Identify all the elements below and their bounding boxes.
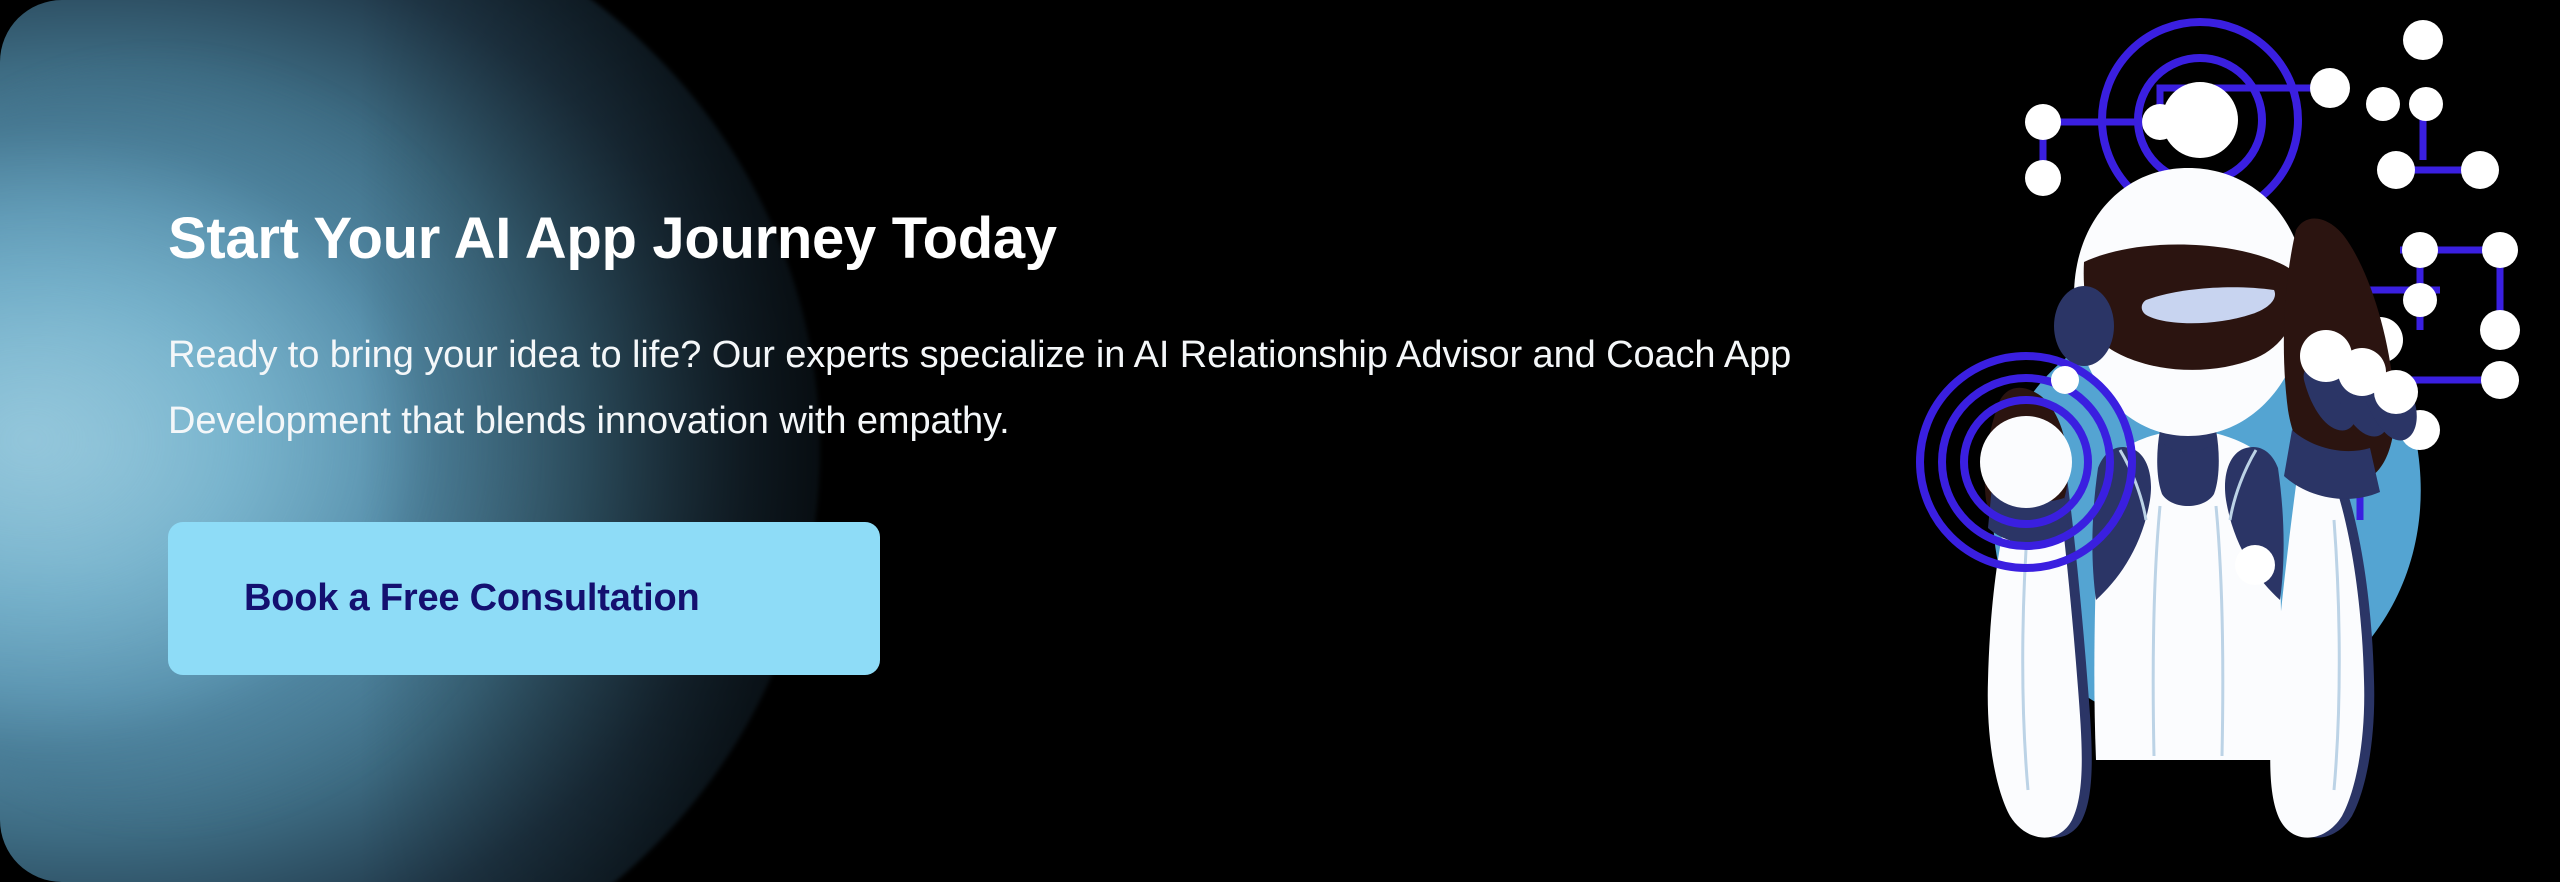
banner-content: Start Your AI App Journey Today Ready to… [168,0,1928,882]
right-ring-core [2162,82,2238,158]
book-a-free-consultation-button[interactable]: Book a Free Consultation [168,522,880,675]
page-title: Start Your AI App Journey Today [168,206,1057,272]
banner-description: Ready to bring your idea to life? Our ex… [168,322,1998,454]
robot-torso [2092,430,2283,760]
cta-banner: Start Your AI App Journey Today Ready to… [0,0,2560,882]
robot-ear-piece [2054,286,2114,366]
